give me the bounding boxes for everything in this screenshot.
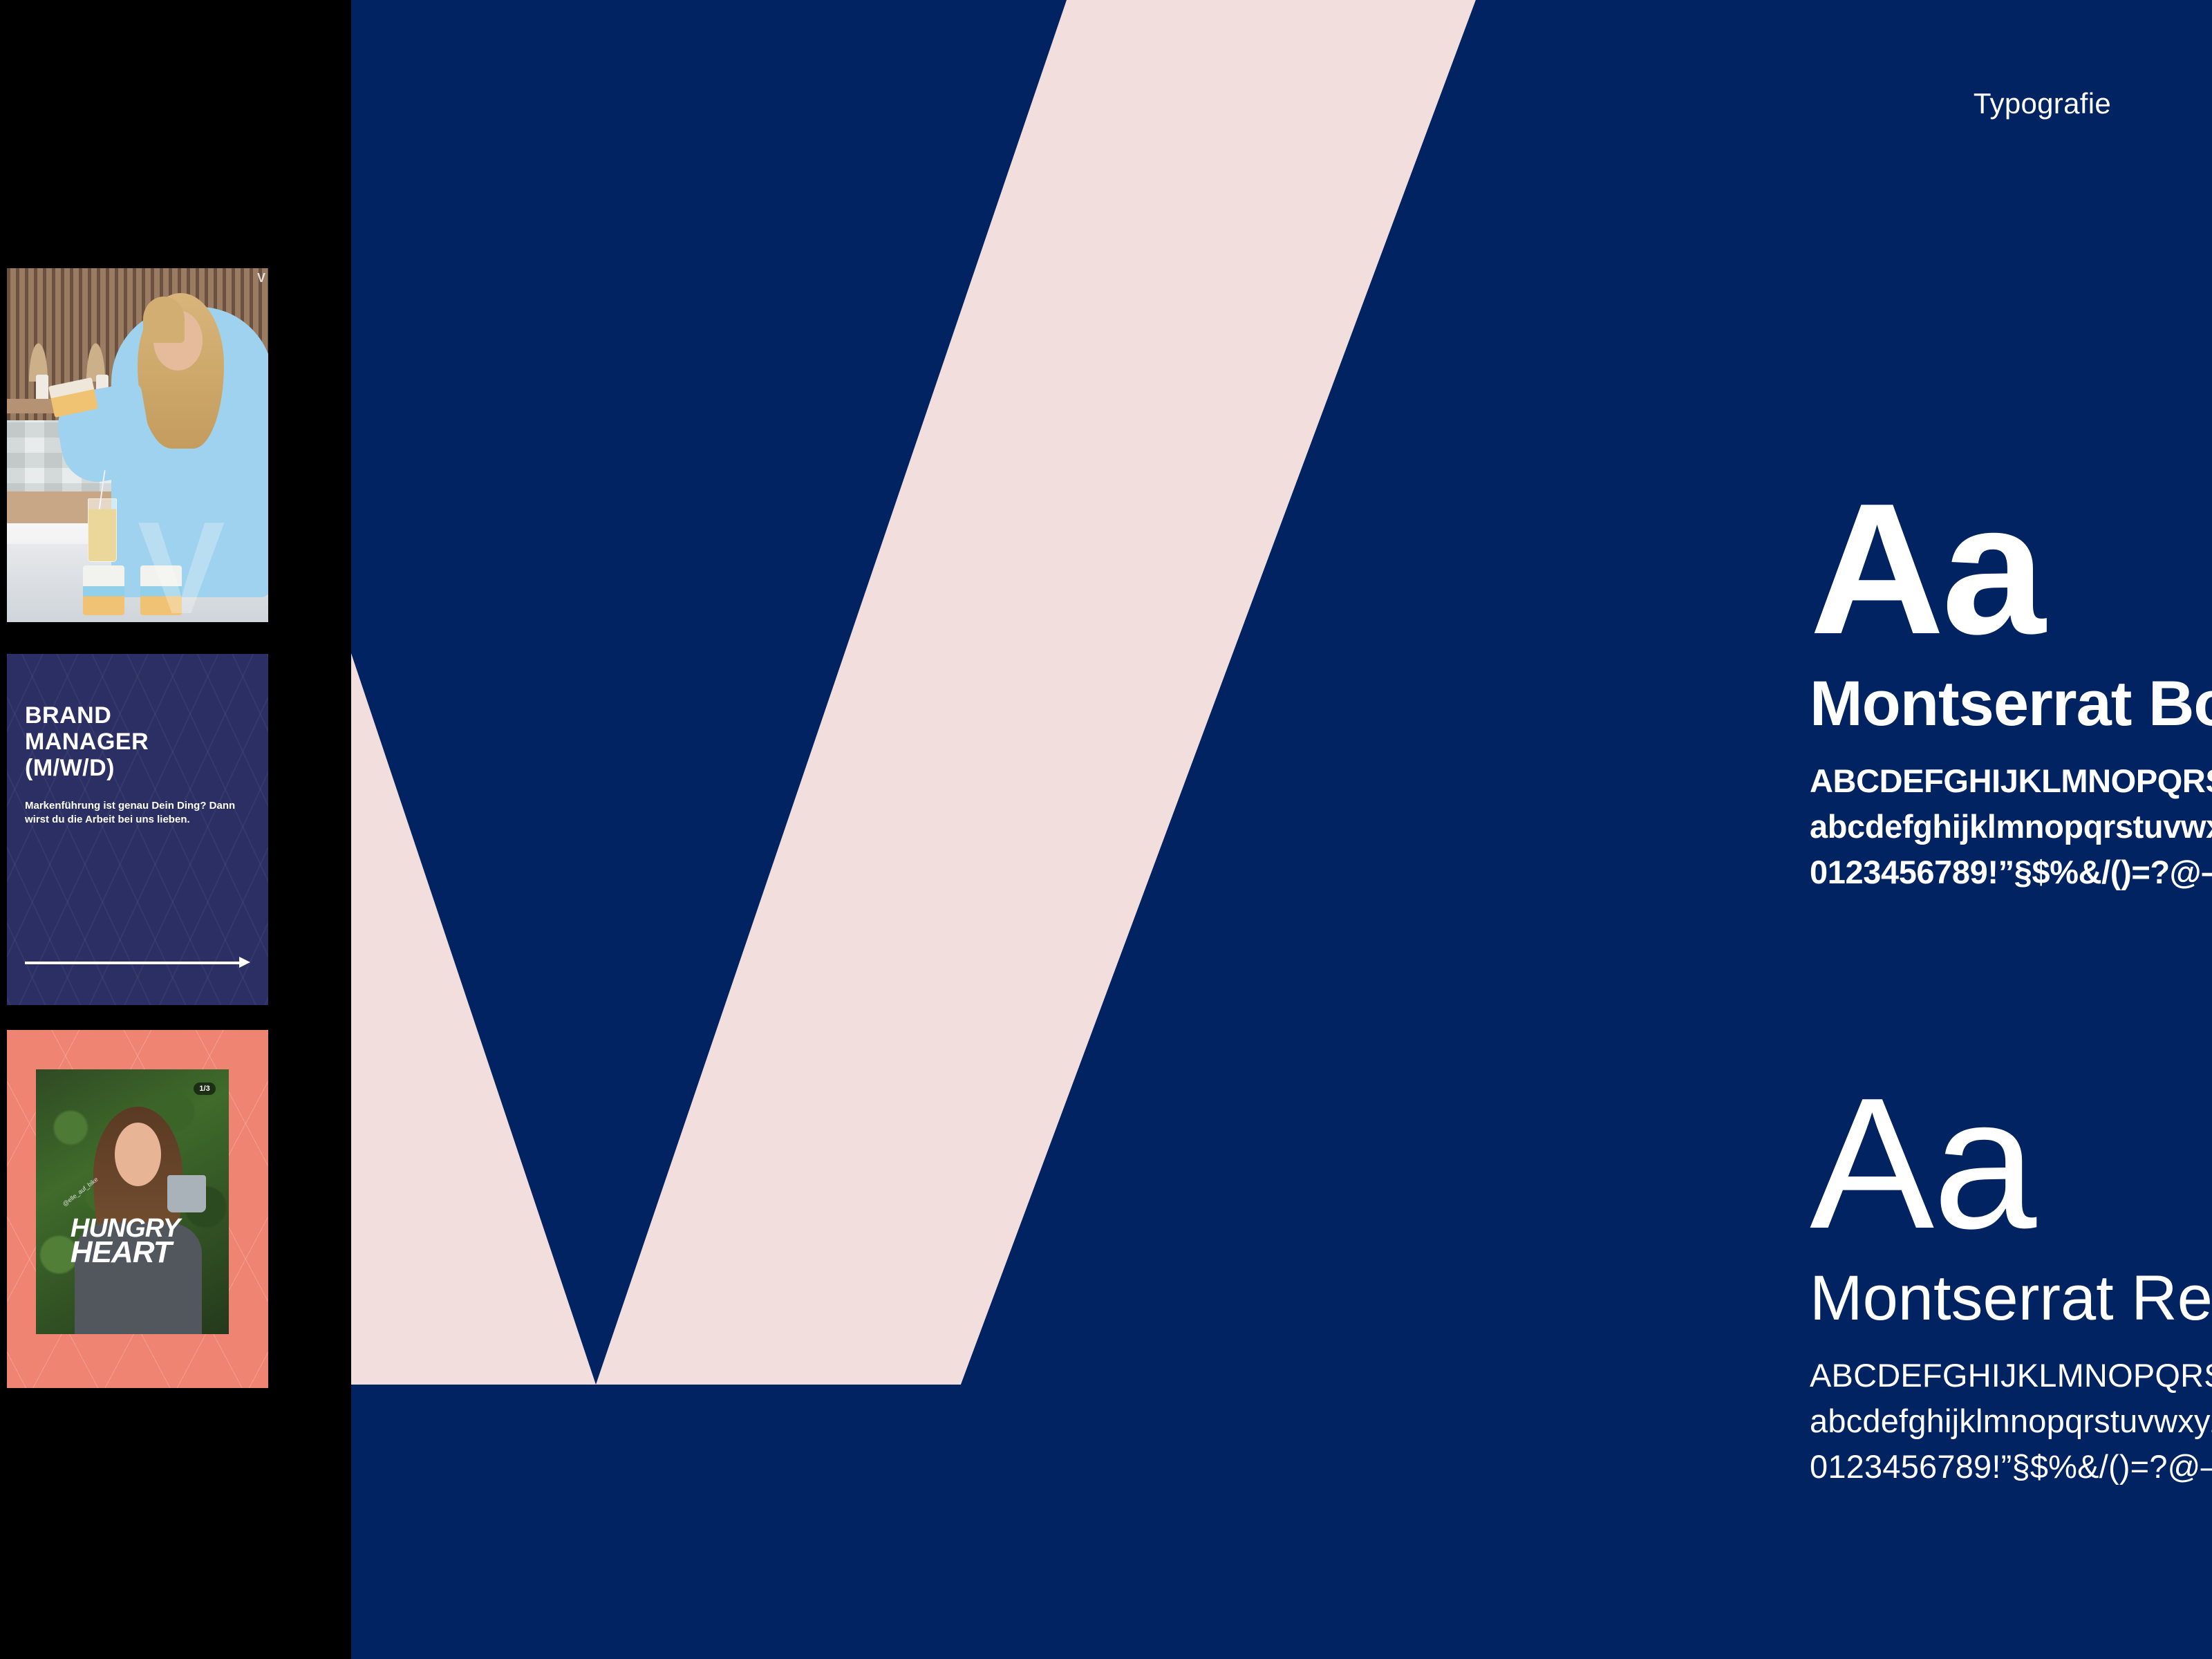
specimen-charset: ABCDEFGHIJKLMNOPQRSTUVWXYZ abcdefghijklm… bbox=[1810, 758, 2212, 894]
specimen-charset: ABCDEFGHIJKLMNOPQRSTUVWXYZ abcdefghijklm… bbox=[1810, 1353, 2212, 1489]
kitchen-photo: V V bbox=[7, 268, 268, 622]
thumbnail-job-ad[interactable]: BRAND MANAGER (M/W/D) Markenführung ist … bbox=[6, 653, 270, 1006]
mug-icon bbox=[167, 1175, 206, 1212]
charset-figures: 0123456789!”§$%&/()=?@–| bbox=[1810, 1444, 2212, 1490]
job-ad-body: Markenführung ist genau Dein Ding? Dann … bbox=[25, 799, 250, 826]
vase-icon bbox=[36, 375, 49, 403]
corner-mark: V bbox=[257, 271, 265, 285]
hungry-heart-logo: HUNGRY HEART bbox=[71, 1218, 198, 1266]
job-ad-title-line: BRAND bbox=[25, 702, 250, 729]
pampas-grass-icon bbox=[80, 318, 111, 382]
thumbnail-social-post[interactable]: @elle_auf_bike HUNGRY HEART 1/3 bbox=[6, 1029, 270, 1389]
specimen-sample-glyphs: Aa bbox=[1810, 1078, 2212, 1250]
thumbnail-lifestyle-photo[interactable]: V V bbox=[6, 267, 270, 624]
page-title: Typografie bbox=[1974, 87, 2111, 120]
charset-lowercase: abcdefghijklmnopqrstuvwxyz bbox=[1810, 1398, 2212, 1444]
logo-line: HEART bbox=[71, 1240, 198, 1266]
charset-lowercase: abcdefghijklmnopqrstuvwxyz bbox=[1810, 804, 2212, 850]
social-photo: @elle_auf_bike HUNGRY HEART 1/3 bbox=[36, 1069, 229, 1334]
specimen-montserrat-bold: Aa Montserrat Bold ABCDEFGHIJKLMNOPQRSTU… bbox=[1810, 484, 2212, 895]
charset-uppercase: ABCDEFGHIJKLMNOPQRSTUVWXYZ bbox=[1810, 1353, 2212, 1398]
slide-body: Typografie Aa Montserrat Bold ABCDEFGHIJ… bbox=[351, 0, 2212, 1659]
charset-uppercase: ABCDEFGHIJKLMNOPQRSTUVWXYZ bbox=[1810, 758, 2212, 804]
v-watermark-icon: V bbox=[138, 516, 270, 624]
product-jar bbox=[83, 565, 124, 615]
job-ad-card: BRAND MANAGER (M/W/D) Markenführung ist … bbox=[7, 654, 268, 1005]
smoothie-glass bbox=[88, 498, 117, 562]
specimen-sample-glyphs: Aa bbox=[1810, 484, 2212, 655]
slide-canvas: V V BRAND MANAGER (M/W/D) Markenführung … bbox=[0, 0, 2212, 1659]
arrow-shaft bbox=[25, 962, 243, 964]
arrow-head bbox=[239, 957, 250, 968]
job-ad-title: BRAND MANAGER (M/W/D) bbox=[25, 702, 250, 781]
thumbnail-rail: V V BRAND MANAGER (M/W/D) Markenführung … bbox=[0, 0, 351, 1659]
specimen-name: Montserrat Bold bbox=[1810, 668, 2212, 740]
carousel-counter-badge: 1/3 bbox=[194, 1082, 215, 1095]
pampas-grass-icon bbox=[23, 318, 54, 382]
arrow-right-icon[interactable] bbox=[25, 957, 250, 968]
face bbox=[115, 1123, 161, 1186]
job-ad-title-line: (M/W/D) bbox=[25, 755, 250, 781]
charset-figures: 0123456789!”§$%&/()=?@–| bbox=[1810, 850, 2212, 895]
social-post-card: @elle_auf_bike HUNGRY HEART 1/3 bbox=[7, 1030, 268, 1388]
specimen-name: Montserrat Regular bbox=[1810, 1262, 2212, 1335]
job-ad-title-line: MANAGER bbox=[25, 729, 250, 755]
hair-front bbox=[143, 297, 185, 343]
specimen-montserrat-regular: Aa Montserrat Regular ABCDEFGHIJKLMNOPQR… bbox=[1810, 1078, 2212, 1490]
